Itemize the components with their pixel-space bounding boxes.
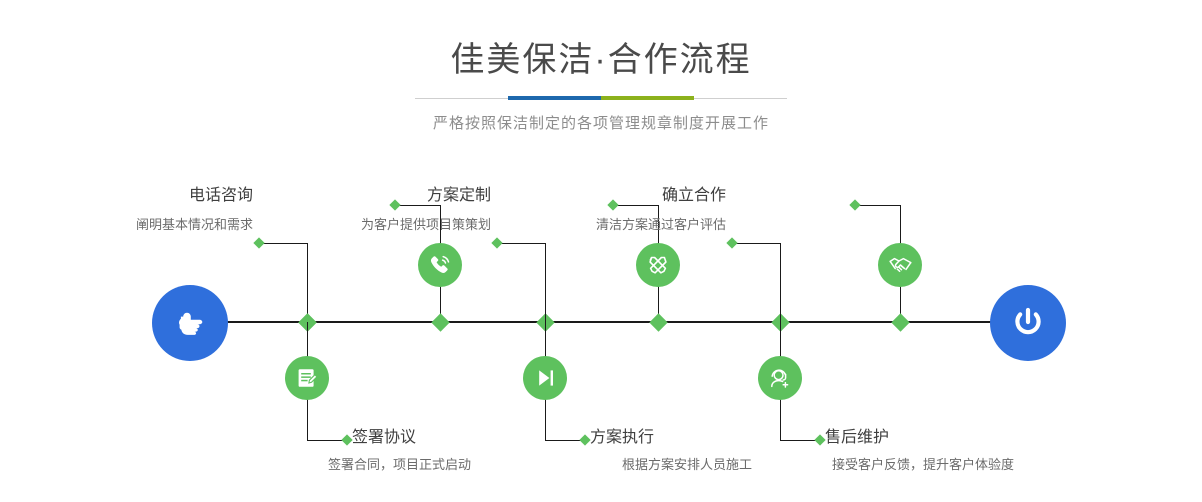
step-icon-1[interactable] <box>418 243 462 287</box>
step-title-6: 售后维护 <box>825 427 889 449</box>
timeline-marker-1b <box>431 313 449 331</box>
step-desc-6: 接受客户反馈，提升客户体验度 <box>832 455 1014 475</box>
label-marker-6 <box>814 434 825 445</box>
connector-horizontal-4 <box>545 440 583 441</box>
step-desc-5: 清洁方案通过客户评估 <box>480 215 726 235</box>
step-desc-1: 阐明基本情况和需求 <box>0 215 253 235</box>
process-flow-page: 佳美保洁·合作流程 严格按照保洁制定的各项管理规章制度开展工作 <box>0 0 1202 502</box>
step-desc-3: 为客户提供项目策策划 <box>240 215 491 235</box>
timeline-end-node[interactable] <box>990 285 1066 361</box>
step-desc-wrap-3: 为客户提供项目策策划 <box>240 212 491 235</box>
step-desc-2: 签署合同，项目正式启动 <box>328 455 471 475</box>
label-marker-1 <box>253 237 264 248</box>
pencil-ruler-icon <box>645 252 671 278</box>
step-icon-2[interactable] <box>285 356 329 400</box>
timeline-diagram: 电话咨询 阐明基本情况和需求 <box>0 0 1202 502</box>
label-marker-3 <box>491 237 502 248</box>
step-title-4: 方案执行 <box>590 427 654 449</box>
phone-call-icon <box>427 252 453 278</box>
connector-horizontal-6 <box>780 440 818 441</box>
play-execute-icon <box>532 365 558 391</box>
connector-horizontal-5 <box>732 243 780 244</box>
step-icon-4[interactable] <box>523 356 567 400</box>
label-marker-2 <box>341 434 352 445</box>
step-icon-5[interactable] <box>878 243 922 287</box>
connector-horizontal-1 <box>259 243 307 244</box>
step-label-1: 电话咨询 <box>0 185 253 207</box>
step-label-6: 售后维护 <box>825 427 889 449</box>
step-label-3: 方案定制 <box>240 185 491 207</box>
step-title-2: 签署协议 <box>352 427 416 449</box>
step-desc-wrap-5: 清洁方案通过客户评估 <box>480 212 726 235</box>
timeline-marker-5b <box>891 313 909 331</box>
step-label-2: 签署协议 <box>352 427 416 449</box>
connector-vertical-3 <box>545 243 546 322</box>
document-sign-icon <box>294 365 320 391</box>
customer-service-add-icon <box>767 365 793 391</box>
step-desc-wrap-6: 接受客户反馈，提升客户体验度 <box>832 452 1014 475</box>
power-icon <box>1007 302 1049 344</box>
connector-horizontal-2 <box>307 440 345 441</box>
step-title-3: 方案定制 <box>240 185 491 207</box>
connector-vertical-1 <box>307 243 308 322</box>
label-marker-5 <box>726 237 737 248</box>
step-desc-wrap-2: 签署合同，项目正式启动 <box>328 452 471 475</box>
step-title-5: 确立合作 <box>480 185 726 207</box>
step-icon-3[interactable] <box>636 243 680 287</box>
connector-horizontal-5b <box>855 205 901 206</box>
timeline-marker-3b <box>649 313 667 331</box>
step-icon-6[interactable] <box>758 356 802 400</box>
connector-horizontal-3 <box>497 243 545 244</box>
handshake-icon <box>887 252 914 279</box>
connector-vertical-5 <box>780 243 781 322</box>
label-marker-4 <box>579 434 590 445</box>
step-label-4: 方案执行 <box>590 427 654 449</box>
step-desc-wrap-1: 阐明基本情况和需求 <box>0 212 253 235</box>
timeline-start-node[interactable] <box>152 285 228 361</box>
step-desc-4: 根据方案安排人员施工 <box>622 455 752 475</box>
step-title-1: 电话咨询 <box>0 185 253 207</box>
step-desc-wrap-4: 根据方案安排人员施工 <box>622 452 752 475</box>
pointing-hand-icon <box>170 303 210 343</box>
step-label-5: 确立合作 <box>480 185 726 207</box>
label-marker-5b <box>849 199 860 210</box>
